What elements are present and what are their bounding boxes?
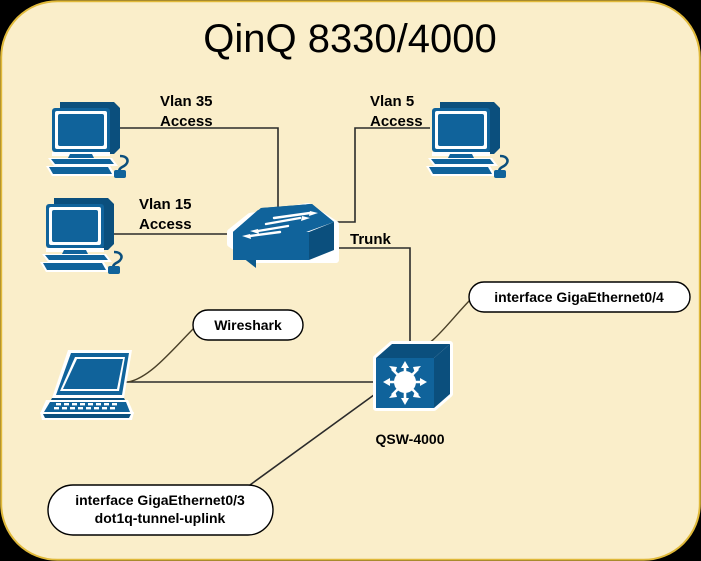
- label-vlan5-line1: Vlan 5: [370, 93, 414, 110]
- callout-giga0-4[interactable]: interface GigaEthernet0/4: [469, 282, 690, 312]
- page-title: QinQ 8330/4000: [203, 17, 497, 61]
- label-vlan15-line1: Vlan 15: [139, 196, 192, 213]
- label-vlan5-line2: Access: [370, 113, 423, 130]
- callout-wireshark-label: Wireshark: [214, 317, 282, 333]
- callout-giga0-3[interactable]: interface GigaEthernet0/3 dot1q-tunnel-u…: [48, 485, 273, 535]
- callout-giga04-label: interface GigaEthernet0/4: [494, 289, 664, 305]
- callout-giga03-label-line1: interface GigaEthernet0/3: [75, 492, 245, 508]
- callout-wireshark[interactable]: Wireshark: [193, 310, 303, 340]
- qsw4000-icon: [376, 344, 450, 408]
- label-vlan35-line2: Access: [160, 113, 213, 130]
- label-trunk: Trunk: [350, 231, 391, 248]
- label-vlan35-line1: Vlan 35: [160, 93, 213, 110]
- diagram-canvas: QinQ 8330/4000: [0, 0, 701, 561]
- callout-giga03-label-line2: dot1q-tunnel-uplink: [95, 510, 226, 526]
- label-qsw4000: QSW-4000: [376, 431, 445, 447]
- diagram-panel: [1, 1, 700, 560]
- label-vlan15-line2: Access: [139, 216, 192, 233]
